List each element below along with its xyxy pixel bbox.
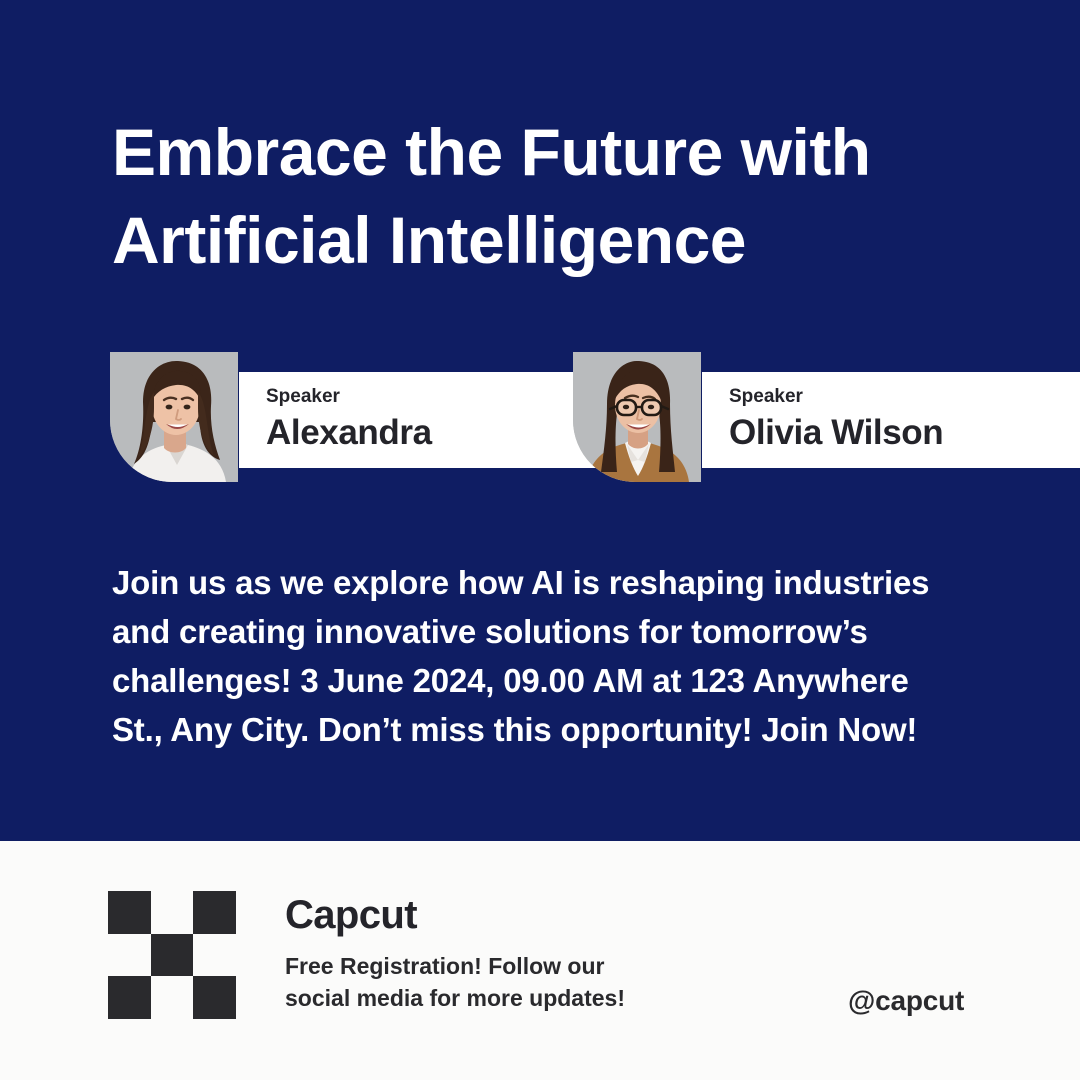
tagline-line-1: Free Registration! Follow our	[285, 950, 625, 982]
body-line-1: Join us as we explore how AI is reshapin…	[112, 558, 992, 607]
brand-name: Capcut	[285, 892, 625, 938]
page-title: Embrace the Future with Artificial Intel…	[112, 108, 1012, 284]
brand-block: Capcut Free Registration! Follow our soc…	[285, 892, 625, 1014]
body-line-4: St., Any City. Don’t miss this opportuni…	[112, 705, 992, 754]
logo-cell	[151, 976, 194, 1019]
body-line-3: challenges! 3 June 2024, 09.00 AM at 123…	[112, 656, 992, 705]
hero-section: Embrace the Future with Artificial Intel…	[0, 0, 1080, 841]
logo-cell	[108, 976, 151, 1019]
event-description: Join us as we explore how AI is reshapin…	[112, 558, 992, 754]
logo-cell	[193, 976, 236, 1019]
title-line-2: Artificial Intelligence	[112, 196, 1012, 284]
logo-cell	[193, 891, 236, 934]
speaker-photo	[110, 352, 238, 482]
poster-canvas: Embrace the Future with Artificial Intel…	[0, 0, 1080, 1080]
body-line-2: and creating innovative solutions for to…	[112, 607, 992, 656]
logo-cell	[108, 934, 151, 977]
speaker-name: Alexandra	[266, 414, 620, 453]
logo-cell	[151, 934, 194, 977]
logo-cell	[193, 934, 236, 977]
speaker-nameplate: Speaker Olivia Wilson	[702, 372, 1080, 468]
tagline-line-2: social media for more updates!	[285, 982, 625, 1014]
logo-cell	[108, 891, 151, 934]
speaker-nameplate: Speaker Alexandra	[239, 372, 620, 468]
checkerboard-logo-icon	[108, 891, 236, 1019]
speaker-role-label: Speaker	[729, 387, 1080, 408]
speaker-name: Olivia Wilson	[729, 414, 1080, 453]
logo-cell	[151, 891, 194, 934]
title-line-1: Embrace the Future with	[112, 108, 1012, 196]
speaker-role-label: Speaker	[266, 387, 620, 408]
social-handle[interactable]: @capcut	[848, 985, 964, 1017]
speaker-photo	[573, 352, 701, 482]
brand-tagline: Free Registration! Follow our social med…	[285, 950, 625, 1014]
